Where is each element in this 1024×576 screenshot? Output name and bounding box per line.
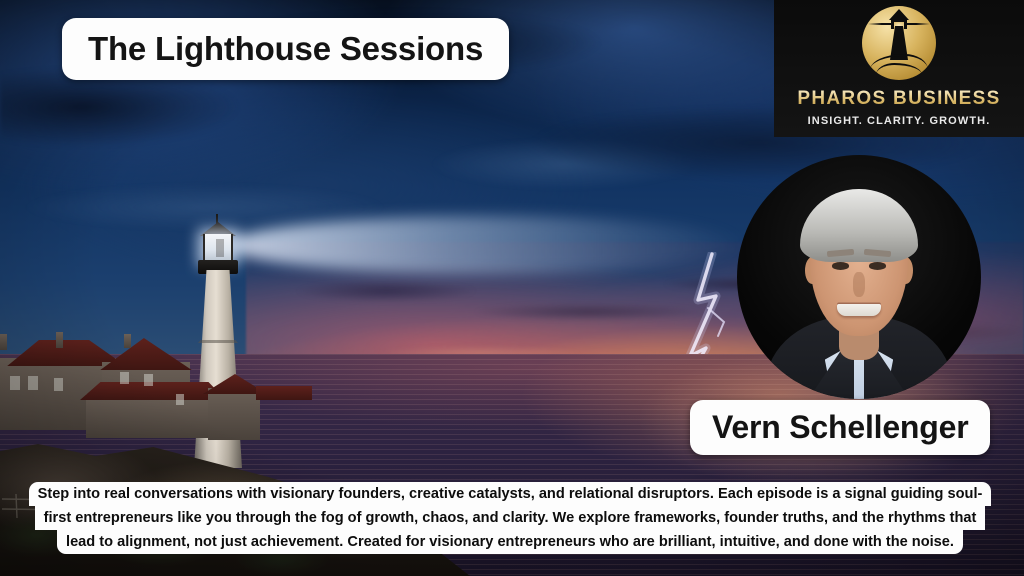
brand-logo-panel: PHAROS BUSINESS INSIGHT. CLARITY. GROWTH…	[774, 0, 1024, 137]
lighthouse-logo-icon	[862, 6, 936, 80]
show-title-badge: The Lighthouse Sessions	[62, 18, 509, 80]
brand-tagline: INSIGHT. CLARITY. GROWTH.	[808, 115, 991, 127]
page-title: The Lighthouse Sessions	[88, 30, 483, 68]
description-line-2: first entrepreneurs like you through the…	[35, 506, 986, 530]
description-block: Step into real conversations with vision…	[4, 482, 1016, 554]
brand-name: PHAROS BUSINESS	[797, 88, 1000, 110]
guest-name-badge: Vern Schellenger	[690, 400, 990, 455]
description-line-3: lead to alignment, not just achievement.…	[57, 530, 963, 554]
description-line-1: Step into real conversations with vision…	[29, 482, 992, 506]
guest-avatar	[737, 155, 981, 399]
podcast-cover-artwork: The Lighthouse Sessions PHAROS BUSINESS …	[0, 0, 1024, 576]
guest-name: Vern Schellenger	[712, 409, 968, 446]
